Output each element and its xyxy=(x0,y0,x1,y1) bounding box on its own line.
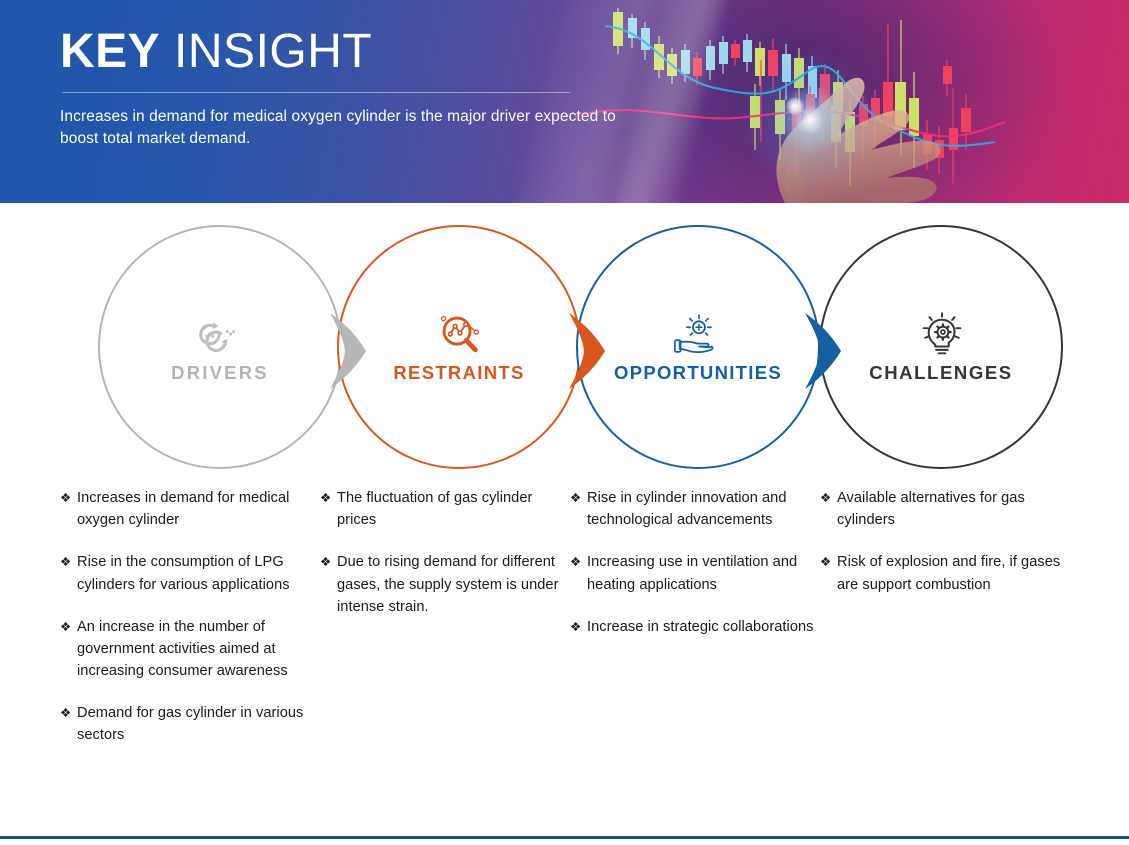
node-challenges-label: CHALLENGES xyxy=(869,362,1012,384)
bullet-marker-icon: ❖ xyxy=(820,551,837,595)
list-item: ❖ Rise in cylinder innovation and techno… xyxy=(570,487,815,531)
list-item-text: Rise in cylinder innovation and technolo… xyxy=(587,487,815,531)
bullet-marker-icon: ❖ xyxy=(60,551,77,595)
title-divider xyxy=(62,92,570,93)
footer-divider xyxy=(0,836,1129,839)
page-title: KEY INSIGHT xyxy=(60,26,640,78)
list-item-text: Increase in strategic collaborations xyxy=(587,616,814,638)
node-opportunities-label: OPPORTUNITIES xyxy=(614,362,782,384)
bullet-column-opportunities: ❖ Rise in cylinder innovation and techno… xyxy=(570,487,815,658)
list-item-text: The fluctuation of gas cylinder prices xyxy=(337,487,565,531)
bullet-marker-icon: ❖ xyxy=(570,616,587,638)
list-item: ❖ Increasing use in ventilation and heat… xyxy=(570,551,815,595)
node-drivers-label: DRIVERS xyxy=(171,362,269,384)
list-item-text: Due to rising demand for different gases… xyxy=(337,551,565,618)
node-opportunities[interactable]: OPPORTUNITIES xyxy=(576,225,820,475)
bullet-marker-icon: ❖ xyxy=(820,487,837,531)
hand-holding-idea-icon xyxy=(671,311,725,357)
magnifier-analytics-icon xyxy=(432,311,486,357)
list-item: ❖ Risk of explosion and fire, if gases a… xyxy=(820,551,1075,595)
list-item-text: Increasing use in ventilation and heatin… xyxy=(587,551,815,595)
list-item-text: Risk of explosion and fire, if gases are… xyxy=(837,551,1075,595)
list-item-text: Rise in the consumption of LPG cylinders… xyxy=(77,551,313,595)
bullet-marker-icon: ❖ xyxy=(60,487,77,531)
list-item: ❖ The fluctuation of gas cylinder prices xyxy=(320,487,565,531)
node-restraints[interactable]: RESTRAINTS xyxy=(337,225,581,475)
page-title-bold: KEY xyxy=(60,25,160,78)
list-item: ❖ Increases in demand for medical oxygen… xyxy=(60,487,313,531)
list-item: ❖ Increase in strategic collaborations xyxy=(570,616,815,638)
list-item-text: An increase in the number of government … xyxy=(77,616,313,683)
process-flow-diagram: DRIVERS RESTRAINTS xyxy=(0,203,1129,473)
header-glow-core xyxy=(786,97,804,115)
header-banner: KEY INSIGHT Increases in demand for medi… xyxy=(0,0,1129,203)
bullet-marker-icon: ❖ xyxy=(320,551,337,618)
node-drivers[interactable]: DRIVERS xyxy=(98,225,342,475)
bullet-column-drivers: ❖ Increases in demand for medical oxygen… xyxy=(60,487,313,767)
header-subtitle: Increases in demand for medical oxygen c… xyxy=(60,106,640,151)
bullet-columns: ❖ Increases in demand for medical oxygen… xyxy=(0,487,1129,787)
list-item: ❖ Due to rising demand for different gas… xyxy=(320,551,565,618)
node-challenges[interactable]: CHALLENGES xyxy=(819,225,1063,475)
bullet-marker-icon: ❖ xyxy=(570,551,587,595)
bullet-column-restraints: ❖ The fluctuation of gas cylinder prices… xyxy=(320,487,565,638)
list-item: ❖ Rise in the consumption of LPG cylinde… xyxy=(60,551,313,595)
list-item-text: Increases in demand for medical oxygen c… xyxy=(77,487,313,531)
bullet-marker-icon: ❖ xyxy=(320,487,337,531)
cycle-arrows-icon xyxy=(193,311,247,357)
list-item: ❖ Demand for gas cylinder in various sec… xyxy=(60,702,313,746)
header-text-block: KEY INSIGHT Increases in demand for medi… xyxy=(60,26,640,151)
list-item-text: Available alternatives for gas cylinders xyxy=(837,487,1075,531)
lightbulb-gear-icon xyxy=(914,311,968,357)
list-item: ❖ Available alternatives for gas cylinde… xyxy=(820,487,1075,531)
bullet-marker-icon: ❖ xyxy=(570,487,587,531)
page-title-light: INSIGHT xyxy=(174,25,372,78)
node-restraints-label: RESTRAINTS xyxy=(393,362,524,384)
list-item: ❖ An increase in the number of governmen… xyxy=(60,616,313,683)
list-item-text: Demand for gas cylinder in various secto… xyxy=(77,702,313,746)
bullet-marker-icon: ❖ xyxy=(60,702,77,746)
bullet-column-challenges: ❖ Available alternatives for gas cylinde… xyxy=(820,487,1075,616)
bullet-marker-icon: ❖ xyxy=(60,616,77,683)
